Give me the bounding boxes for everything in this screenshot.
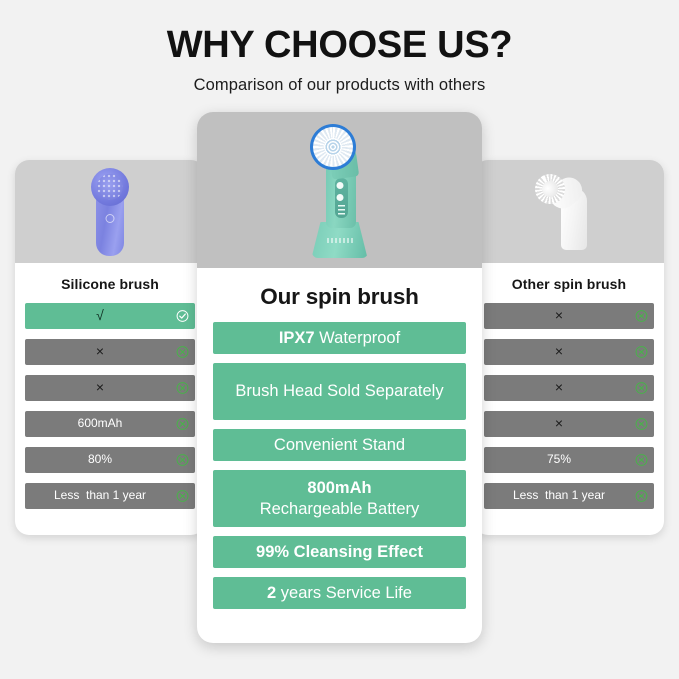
table-row: × <box>484 411 654 437</box>
row-value: 600mAh <box>78 417 123 430</box>
cross-circle-icon <box>176 382 189 395</box>
table-row: 800mAhRechargeable Battery <box>213 470 466 527</box>
row-value: Less than 1 year <box>513 489 605 502</box>
comparison-card-our-spin-brush: Our spin brush IPX7 Waterproof Brush Hea… <box>197 112 482 643</box>
silicone-brush-purple-icon <box>89 168 131 256</box>
page-header: WHY CHOOSE US? Comparison of our product… <box>0 0 679 95</box>
feature-row-list-left: √ × × <box>25 303 195 509</box>
column-title-center: Our spin brush <box>213 268 466 322</box>
cross-circle-icon <box>176 490 189 503</box>
cross-circle-icon <box>635 490 648 503</box>
row-value-strong: 2 <box>267 584 276 602</box>
table-row: Convenient Stand <box>213 429 466 461</box>
product-image-panel-center <box>197 112 482 268</box>
row-value: × <box>96 380 104 395</box>
check-circle-icon <box>176 310 189 323</box>
table-row: × <box>484 339 654 365</box>
row-value: × <box>555 344 563 359</box>
row-value: 800mAhRechargeable Battery <box>260 478 420 519</box>
cross-circle-icon <box>176 454 189 467</box>
cross-circle-icon <box>635 454 648 467</box>
row-value: × <box>96 344 104 359</box>
row-value: IPX7 Waterproof <box>279 328 400 349</box>
table-row: Less than 1 year <box>484 483 654 509</box>
row-value-rest: Waterproof <box>315 329 401 347</box>
row-value: 80% <box>88 453 112 466</box>
row-value: 75% <box>547 453 571 466</box>
product-image-panel-right <box>474 160 664 263</box>
cross-circle-icon <box>635 310 648 323</box>
row-value: × <box>555 308 563 323</box>
comparison-card-other-spin-brush: Other spin brush × × <box>474 160 664 535</box>
row-value-strong: 99% Cleansing Effect <box>256 543 423 561</box>
cross-circle-icon <box>635 382 648 395</box>
table-row: 80% <box>25 447 195 473</box>
row-value: × <box>555 380 563 395</box>
row-value-strong: 800mAh <box>307 479 371 497</box>
table-row: IPX7 Waterproof <box>213 322 466 354</box>
page-title: WHY CHOOSE US? <box>0 26 679 66</box>
column-title-right: Other spin brush <box>484 263 654 303</box>
row-value: Brush Head Sold Separately <box>235 381 443 402</box>
table-row: Less than 1 year <box>25 483 195 509</box>
row-value: Less than 1 year <box>54 489 146 502</box>
row-value: 2 years Service Life <box>267 583 412 604</box>
spin-brush-mint-icon <box>302 122 378 260</box>
row-value-rest: Rechargeable Battery <box>260 500 420 518</box>
product-image-panel-left <box>15 160 205 263</box>
cross-circle-icon <box>176 418 189 431</box>
comparison-card-silicone-brush: Silicone brush √ × <box>15 160 205 535</box>
table-row: 600mAh <box>25 411 195 437</box>
row-value: × <box>555 416 563 431</box>
table-row: × <box>25 375 195 401</box>
row-value-strong: IPX7 <box>279 329 315 347</box>
spin-brush-white-icon <box>533 174 605 252</box>
table-row: Brush Head Sold Separately <box>213 363 466 420</box>
table-row: × <box>25 339 195 365</box>
row-value: √ <box>96 308 104 323</box>
cross-circle-icon <box>635 346 648 359</box>
table-row: × <box>484 375 654 401</box>
feature-row-list-right: × × × <box>484 303 654 509</box>
table-row: 75% <box>484 447 654 473</box>
table-row: 99% Cleansing Effect <box>213 536 466 568</box>
table-row: √ <box>25 303 195 329</box>
row-value-rest: Brush Head Sold Separately <box>235 382 443 400</box>
cross-circle-icon <box>176 346 189 359</box>
table-row: 2 years Service Life <box>213 577 466 609</box>
page-subtitle: Comparison of our products with others <box>0 76 679 95</box>
column-title-left: Silicone brush <box>25 263 195 303</box>
row-value-rest: Convenient Stand <box>274 436 405 454</box>
feature-row-list-center: IPX7 Waterproof Brush Head Sold Separate… <box>213 322 466 609</box>
table-row: × <box>484 303 654 329</box>
row-value-rest: years Service Life <box>276 584 412 602</box>
cross-circle-icon <box>635 418 648 431</box>
row-value: 99% Cleansing Effect <box>256 542 423 563</box>
row-value: Convenient Stand <box>274 435 405 456</box>
